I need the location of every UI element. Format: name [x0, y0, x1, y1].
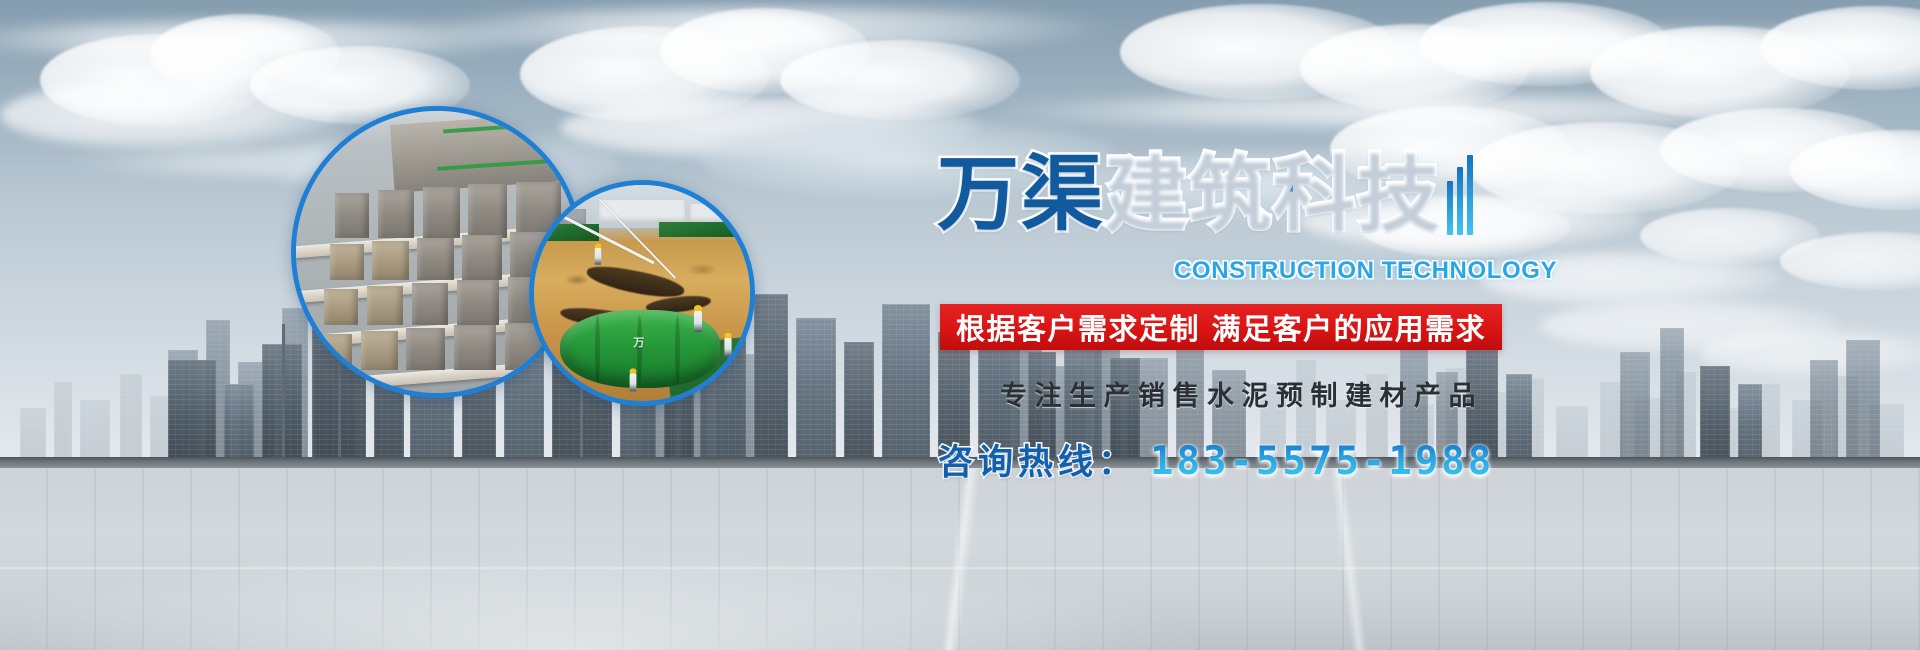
slogan-banner: 根据客户需求定制 满足客户的应用需求: [940, 304, 1502, 350]
business-scope-line: 专注生产销售水泥预制建材产品: [1000, 374, 1483, 413]
slogan-text: 根据客户需求定制 满足客户的应用需求: [956, 306, 1486, 348]
hotline-number[interactable]: 183-5575-1988: [1150, 439, 1494, 484]
title-decoration-bars-icon: [1447, 155, 1479, 235]
title-char-6: 技: [1357, 155, 1441, 235]
title-char-1: 万: [937, 155, 1021, 235]
title-char-2: 渠: [1021, 155, 1105, 235]
title-char-4: 筑: [1189, 155, 1273, 235]
english-subtitle: CONSTRUCTION TECHNOLOGY: [1174, 257, 1557, 285]
hotline-block: 咨询热线： 183-5575-1988: [938, 434, 1494, 485]
title-char-5: 科: [1273, 155, 1357, 235]
banner-text-content: 万 渠 建 筑 科 技 CONSTRUCTION TECHNOLOGY 根据客户…: [0, 0, 1920, 650]
title-char-3: 建: [1105, 155, 1189, 235]
hotline-label: 咨询热线：: [938, 434, 1138, 485]
brand-title: 万 渠 建 筑 科 技: [937, 155, 1479, 235]
promotional-banner: 万 万 渠 建 筑 科 技 CONSTRUCTION TECHNOLOGY: [0, 0, 1920, 650]
